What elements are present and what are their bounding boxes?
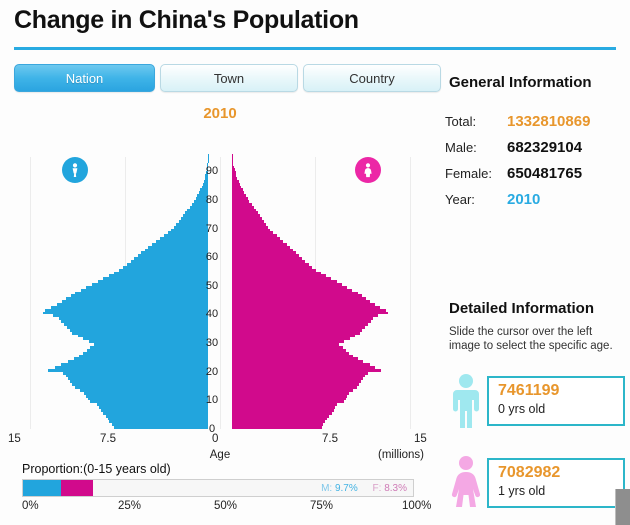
tab-nation[interactable]: Nation xyxy=(14,64,155,92)
female-badge-icon xyxy=(355,157,381,183)
chart-year-label: 2010 xyxy=(0,105,440,122)
proportion-tick-25: 25% xyxy=(118,500,141,512)
page-title: Change in China's Population xyxy=(14,6,359,35)
info-row-male: Male: 682329104 xyxy=(445,134,630,160)
proportion-bar[interactable]: M: 9.7% F: 8.3% xyxy=(22,479,414,497)
tab-bar: Nation Town Country xyxy=(14,64,434,94)
info-label-male: Male: xyxy=(445,140,507,155)
info-value-total: 1332810869 xyxy=(507,113,590,130)
age-tick-50: 50 xyxy=(196,280,228,292)
female-figure-icon xyxy=(449,454,483,512)
detailed-information-heading: Detailed Information xyxy=(449,300,594,317)
info-value-female: 650481765 xyxy=(507,165,582,182)
age-tick-40: 40 xyxy=(196,308,228,320)
info-value-male: 682329104 xyxy=(507,139,582,156)
proportion-legend: Proportion:(0-15 years old) M: 9.7% F: 8… xyxy=(14,462,424,520)
xtick-left-15: 15 xyxy=(8,433,21,445)
age-tick-60: 60 xyxy=(196,251,228,263)
xtick-left-7-5: 7.5 xyxy=(100,433,116,445)
info-label-total: Total: xyxy=(445,114,507,129)
age-tick-90: 90 xyxy=(196,165,228,177)
proportion-readout: M: 9.7% F: 8.3% xyxy=(321,481,407,497)
info-row-total: Total: 1332810869 xyxy=(445,108,630,134)
detail-box-male[interactable]: 7461199 0 yrs old xyxy=(487,376,625,426)
general-information-heading: General Information xyxy=(449,74,592,91)
tab-town[interactable]: Town xyxy=(160,64,298,92)
age-tick-70: 70 xyxy=(196,223,228,235)
detail-age-male: 0 yrs old xyxy=(498,401,623,417)
proportion-segment-male xyxy=(23,480,61,496)
proportion-segment-female xyxy=(61,480,93,496)
proportion-tick-75: 75% xyxy=(310,500,333,512)
detail-card-male: 7461199 0 yrs old xyxy=(449,376,627,428)
scrollbar-thumb[interactable] xyxy=(615,489,630,525)
chart-age-axis-labels: 0102030405060708090 xyxy=(0,157,424,429)
population-pyramid-app: Change in China's Population Nation Town… xyxy=(0,0,630,525)
axis-label-unit: (millions) xyxy=(378,449,424,461)
male-badge-icon xyxy=(62,157,88,183)
age-tick-80: 80 xyxy=(196,194,228,206)
age-tick-20: 20 xyxy=(196,366,228,378)
title-divider xyxy=(14,47,616,50)
population-pyramid-chart[interactable]: 2010 0102030405060708090 15 7.5 0 7.5 15… xyxy=(0,105,440,455)
axis-label-age: Age xyxy=(0,449,440,461)
detail-value-female: 7082982 xyxy=(498,463,623,483)
detailed-information-note: Slide the cursor over the left image to … xyxy=(449,325,624,353)
xtick-right-15: 15 xyxy=(414,433,427,445)
proportion-female-key: F: xyxy=(373,483,382,494)
xtick-right-7-5: 7.5 xyxy=(322,433,338,445)
proportion-male-key: M: xyxy=(321,483,332,494)
proportion-tick-100: 100% xyxy=(402,500,431,512)
proportion-female-value: 8.3% xyxy=(384,483,407,494)
detail-card-female: 7082982 1 yrs old xyxy=(449,458,627,510)
info-label-year: Year: xyxy=(445,192,507,207)
proportion-tick-50: 50% xyxy=(214,500,237,512)
male-figure-icon xyxy=(449,372,483,430)
age-tick-30: 30 xyxy=(196,337,228,349)
detail-age-female: 1 yrs old xyxy=(498,483,623,499)
info-row-female: Female: 650481765 xyxy=(445,160,630,186)
proportion-male-value: 9.7% xyxy=(335,483,358,494)
proportion-title: Proportion:(0-15 years old) xyxy=(22,462,171,476)
proportion-ticks: 0% 25% 50% 75% 100% xyxy=(14,500,424,516)
proportion-tick-0: 0% xyxy=(22,500,39,512)
tab-country[interactable]: Country xyxy=(303,64,441,92)
general-information-table: Total: 1332810869 Male: 682329104 Female… xyxy=(445,108,630,212)
info-value-year: 2010 xyxy=(507,191,540,208)
info-row-year: Year: 2010 xyxy=(445,186,630,212)
age-tick-10: 10 xyxy=(196,394,228,406)
detail-box-female[interactable]: 7082982 1 yrs old xyxy=(487,458,625,508)
detail-value-male: 7461199 xyxy=(498,381,623,401)
info-label-female: Female: xyxy=(445,166,507,181)
xtick-center-0: 0 xyxy=(212,433,218,445)
